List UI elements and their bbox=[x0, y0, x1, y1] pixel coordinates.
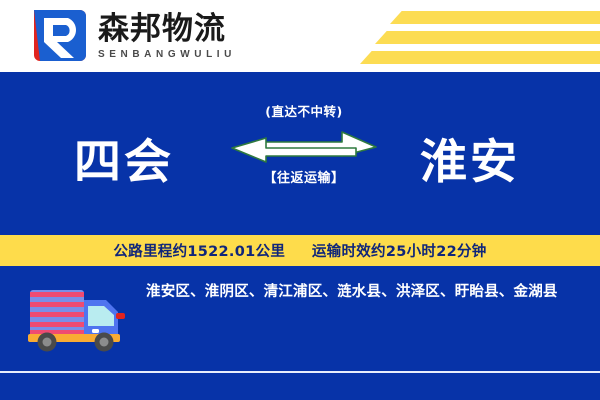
delivery-truck-icon bbox=[26, 286, 130, 352]
header-stripe-1 bbox=[390, 11, 600, 24]
header-stripe-3 bbox=[360, 51, 600, 64]
bidirectional-arrow-icon bbox=[224, 126, 384, 166]
destination-city: 淮安 bbox=[370, 112, 570, 202]
route-distance: 公路里程约1522.01公里 bbox=[113, 244, 285, 260]
brand-logo: 森邦物流 SENBANGWULIU bbox=[30, 8, 236, 63]
coverage-areas-text: 淮安区、淮阴区、清江浦区、涟水县、洪泽区、盱眙县、金湖县 bbox=[146, 281, 578, 304]
brand-name-cn: 森邦物流 bbox=[98, 13, 236, 46]
banner-header: 森邦物流 SENBANGWULIU bbox=[0, 0, 600, 72]
route-info-text: 公路里程约1522.01公里 运输时效约25小时22分钟 bbox=[113, 240, 486, 261]
brand-name-block: 森邦物流 SENBANGWULIU bbox=[98, 11, 236, 60]
route-caption-direct: (直达不中转) bbox=[224, 106, 384, 119]
senbang-r-logo-icon bbox=[30, 8, 88, 63]
route-section: 四会 (直达不中转) 【往返运输】 淮安 bbox=[0, 112, 600, 212]
header-stripe-2 bbox=[375, 31, 600, 44]
route-info-bar: 公路里程约1522.01公里 运输时效约25小时22分钟 bbox=[0, 235, 600, 266]
origin-city: 四会 bbox=[24, 112, 224, 202]
brand-name-en: SENBANGWULIU bbox=[98, 49, 236, 60]
logistics-route-banner: 森邦物流 SENBANGWULIU 四会 (直达不中转) 【往返运输】 淮安 bbox=[0, 0, 600, 400]
route-duration: 运输时效约25小时22分钟 bbox=[312, 244, 487, 260]
bottom-divider bbox=[0, 371, 600, 373]
route-arrow-group: (直达不中转) 【往返运输】 bbox=[224, 106, 384, 216]
route-caption-roundtrip: 【往返运输】 bbox=[224, 172, 384, 185]
